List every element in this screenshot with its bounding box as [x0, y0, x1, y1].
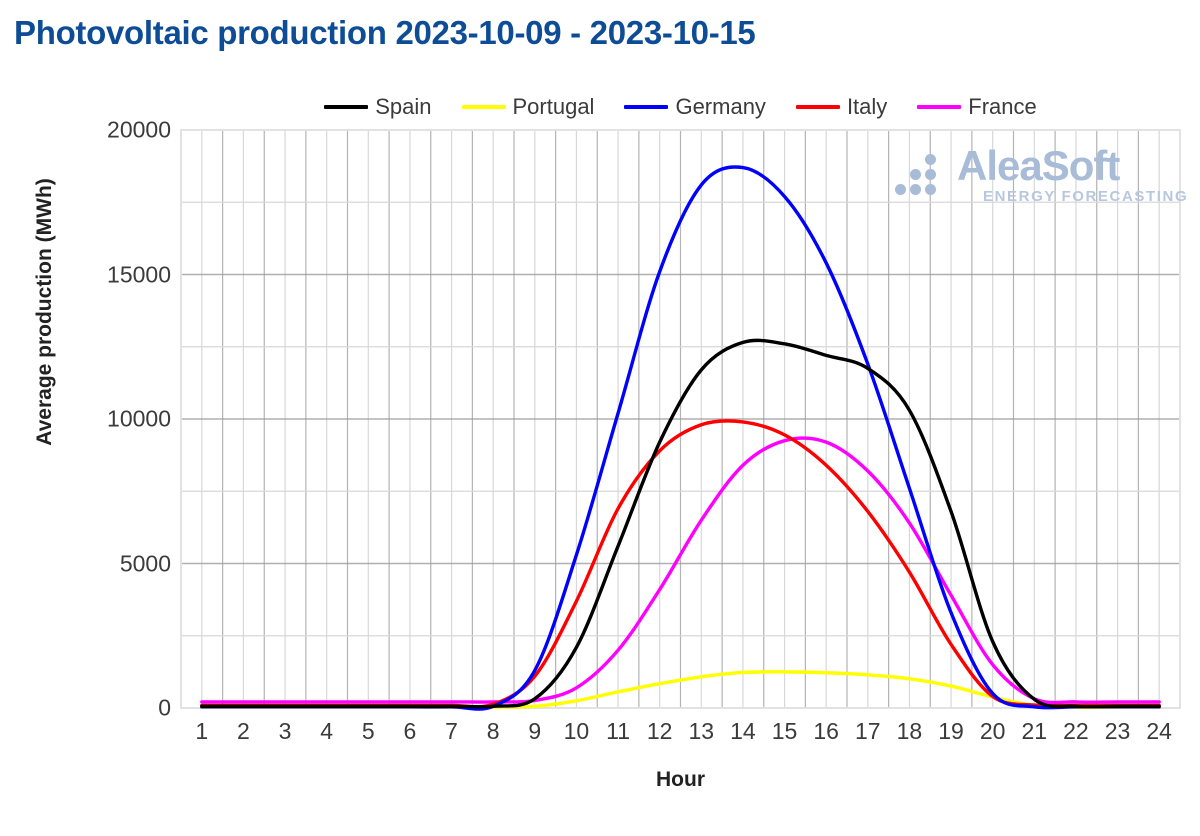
x-tick-label: 19 [930, 718, 972, 752]
y-tick-label: 5000 [120, 550, 171, 577]
photovoltaic-production-chart: Photovoltaic production 2023-10-09 - 202… [0, 0, 1200, 836]
x-tick-label: 15 [764, 718, 806, 752]
x-tick-label: 21 [1014, 718, 1056, 752]
x-tick-label: 18 [889, 718, 931, 752]
x-tick-label: 3 [264, 718, 306, 752]
y-axis-tick-labels: 05000100001500020000 [60, 0, 171, 836]
x-tick-label: 11 [597, 718, 639, 752]
x-tick-label: 10 [556, 718, 598, 752]
x-tick-label: 13 [681, 718, 723, 752]
x-tick-label: 20 [972, 718, 1014, 752]
x-tick-label: 9 [514, 718, 556, 752]
x-tick-label: 5 [348, 718, 390, 752]
x-tick-label: 17 [847, 718, 889, 752]
x-tick-label: 12 [639, 718, 681, 752]
x-tick-label: 8 [472, 718, 514, 752]
y-tick-label: 10000 [107, 406, 171, 433]
x-tick-label: 14 [722, 718, 764, 752]
y-axis-title: Average production (MWh) [33, 162, 57, 462]
y-tick-label: 0 [158, 695, 171, 722]
y-tick-label: 20000 [107, 117, 171, 144]
plot-canvas [0, 0, 1200, 836]
x-axis-title: Hour [181, 768, 1180, 792]
x-axis-tick-labels: 123456789101112131415161718192021222324 [181, 718, 1180, 752]
x-tick-label: 23 [1097, 718, 1139, 752]
x-tick-label: 2 [223, 718, 265, 752]
y-tick-label: 15000 [107, 261, 171, 288]
x-tick-label: 4 [306, 718, 348, 752]
x-tick-label: 16 [805, 718, 847, 752]
x-tick-label: 6 [389, 718, 431, 752]
x-tick-label: 24 [1138, 718, 1180, 752]
x-tick-label: 7 [431, 718, 473, 752]
x-tick-label: 1 [181, 718, 223, 752]
x-tick-label: 22 [1055, 718, 1097, 752]
